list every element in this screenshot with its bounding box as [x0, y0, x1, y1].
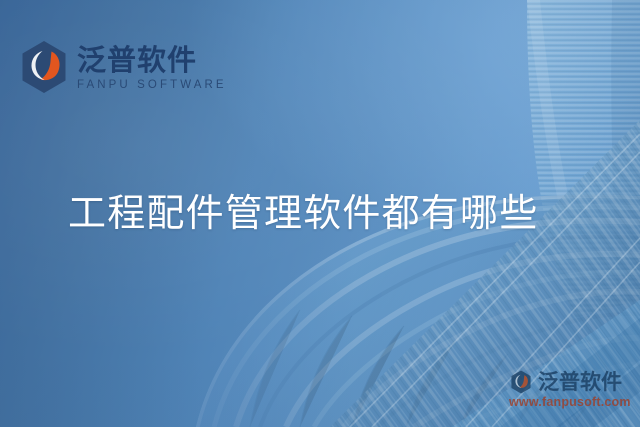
- brand-name-english: FANPU SOFTWARE: [77, 79, 227, 91]
- promo-banner: 泛普软件 FANPU SOFTWARE 工程配件管理软件都有哪些 泛普软件 ww…: [0, 0, 640, 427]
- fanpu-hexagon-logo-icon: [20, 40, 68, 94]
- watermark: 泛普软件 www.fanpusoft.com: [508, 370, 636, 409]
- watermark-brand-name: 泛普软件: [538, 372, 622, 393]
- headline-title: 工程配件管理软件都有哪些: [68, 192, 538, 236]
- watermark-url: www.fanpusoft.com: [509, 395, 636, 409]
- watermark-brand-row: 泛普软件: [508, 370, 636, 394]
- fanpu-hexagon-logo-icon: [508, 370, 534, 394]
- brand-name-chinese: 泛普软件: [77, 45, 227, 76]
- brand-logo[interactable]: 泛普软件 FANPU SOFTWARE: [20, 40, 227, 94]
- brand-logo-text: 泛普软件 FANPU SOFTWARE: [77, 43, 227, 91]
